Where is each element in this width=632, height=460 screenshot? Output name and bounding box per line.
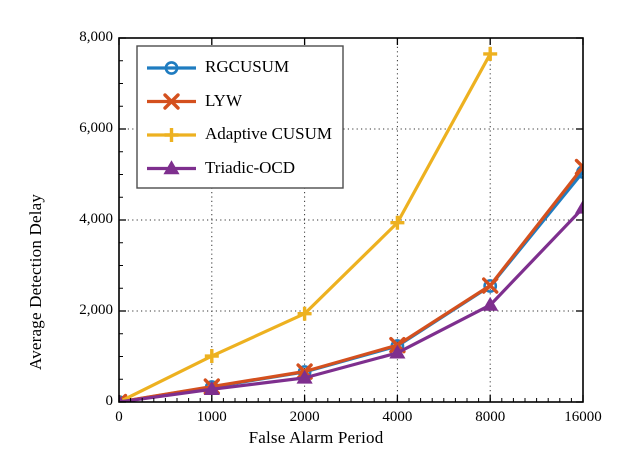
x-tick-label: 16000	[543, 409, 623, 426]
legend-label-lyw[interactable]: LYW	[205, 91, 242, 111]
x-tick-label: 4000	[357, 409, 437, 426]
plot-canvas	[0, 0, 632, 460]
y-tick-label: 2,000	[20, 302, 113, 319]
x-tick-label: 2000	[265, 409, 345, 426]
x-tick-label: 8000	[450, 409, 530, 426]
y-tick-label: 0	[20, 393, 113, 410]
chart-figure: Average Detection Delay False Alarm Peri…	[0, 0, 632, 460]
series-line	[119, 208, 583, 402]
x-axis-label: False Alarm Period	[0, 428, 632, 448]
x-tick-label: 1000	[172, 409, 252, 426]
legend-label-rgcusum[interactable]: RGCUSUM	[205, 57, 289, 77]
y-tick-label: 8,000	[20, 29, 113, 46]
marker-plus	[483, 47, 497, 61]
y-tick-label: 4,000	[20, 211, 113, 228]
y-tick-label: 6,000	[20, 120, 113, 137]
legend-label-triadic-ocd[interactable]: Triadic-OCD	[205, 158, 295, 178]
marker-plus	[205, 349, 219, 363]
series-triadic-ocd	[112, 201, 590, 407]
legend-label-adaptive-cusum[interactable]: Adaptive CUSUM	[205, 124, 332, 144]
series-rgcusum	[113, 166, 588, 407]
x-tick-label: 0	[79, 409, 159, 426]
